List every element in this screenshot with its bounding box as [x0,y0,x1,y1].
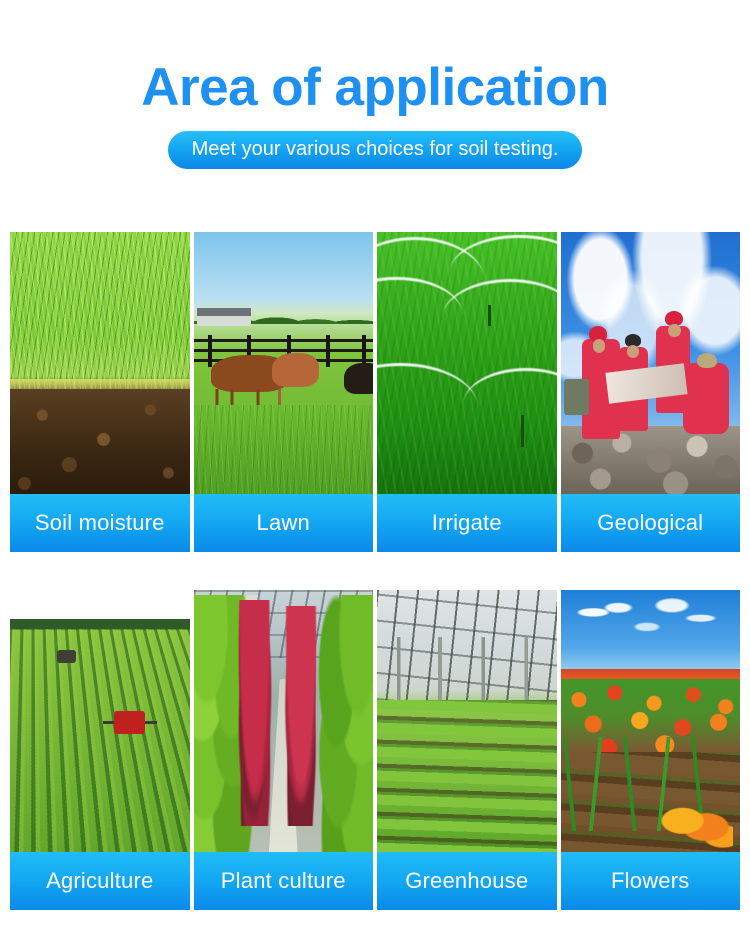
field-bag-decor [564,379,589,416]
cell-label-plant-culture: Plant culture [194,852,374,910]
left-red-lettuce-decor [237,600,273,825]
subtitle-container: Meet your various choices for soil testi… [0,131,750,169]
aerial-crop-rows-red-tractor-image [10,590,190,852]
sprinkler-riser-decor [488,305,491,326]
foreground-tulip-decor [661,800,733,852]
grid-cell-soil-moisture[interactable]: Soil moisture [10,232,190,552]
foreground-grass-decor [194,405,374,494]
greenhouse-interior-lettuce-beds-image [377,590,557,852]
grid-cell-irrigate[interactable]: Irrigate [377,232,557,552]
cell-label-lawn: Lawn [194,494,374,552]
cell-label-flowers: Flowers [561,852,741,910]
grid-cell-plant-culture[interactable]: Plant culture [194,590,374,910]
cell-label-agriculture: Agriculture [10,852,190,910]
grass-over-soil-cross-section-image [10,232,190,494]
barn-decor [197,308,251,326]
sprinkler-arc-decor [463,368,556,405]
surveyors-red-jackets-rocky-summit-image [561,232,741,494]
face-decor [593,339,606,352]
cell-label-irrigate: Irrigate [377,494,557,552]
grid-cell-lawn[interactable]: Lawn [194,232,374,552]
sprinkler-riser-decor [521,415,524,446]
right-red-lettuce-decor [283,606,319,826]
distant-tractor-decor [57,650,77,663]
cell-label-geological: Geological [561,494,741,552]
cell-label-greenhouse: Greenhouse [377,852,557,910]
red-tractor-decor [114,711,145,735]
face-decor [668,324,681,337]
orange-tulip-field-blue-sky-image [561,590,741,852]
horse-dark-decor [344,363,373,394]
hydroponic-tower-corridor-greenhouse-image [194,590,374,852]
page-title: Area of application [0,58,750,118]
application-area-grid: Soil moisture Lawn [10,232,740,910]
horse-chestnut-decor [272,353,319,387]
cell-label-soil-moisture: Soil moisture [10,494,190,552]
grid-cell-agriculture[interactable]: Agriculture [10,590,190,910]
horses-grazing-pasture-fence-image [194,232,374,494]
soil-layer-decor [10,389,190,494]
lettuce-beds-decor [377,700,557,852]
page-header: Area of application Meet your various ch… [0,0,750,169]
subtitle-pill: Meet your various choices for soil testi… [168,131,583,169]
grid-cell-geological[interactable]: Geological [561,232,741,552]
face-decor [627,345,640,358]
sprinkler-arc-decor [442,279,557,319]
sprinklers-watering-green-field-image [377,232,557,494]
surveyor-figure-decor [683,363,730,434]
clouds-decor [561,595,741,653]
grid-cell-greenhouse[interactable]: Greenhouse [377,590,557,910]
grid-cell-flowers[interactable]: Flowers [561,590,741,910]
sun-hat-decor [697,353,717,369]
grass-blades-decor [10,232,190,394]
crop-rows-decor [10,629,190,852]
sprinkler-arc-decor [449,235,557,275]
